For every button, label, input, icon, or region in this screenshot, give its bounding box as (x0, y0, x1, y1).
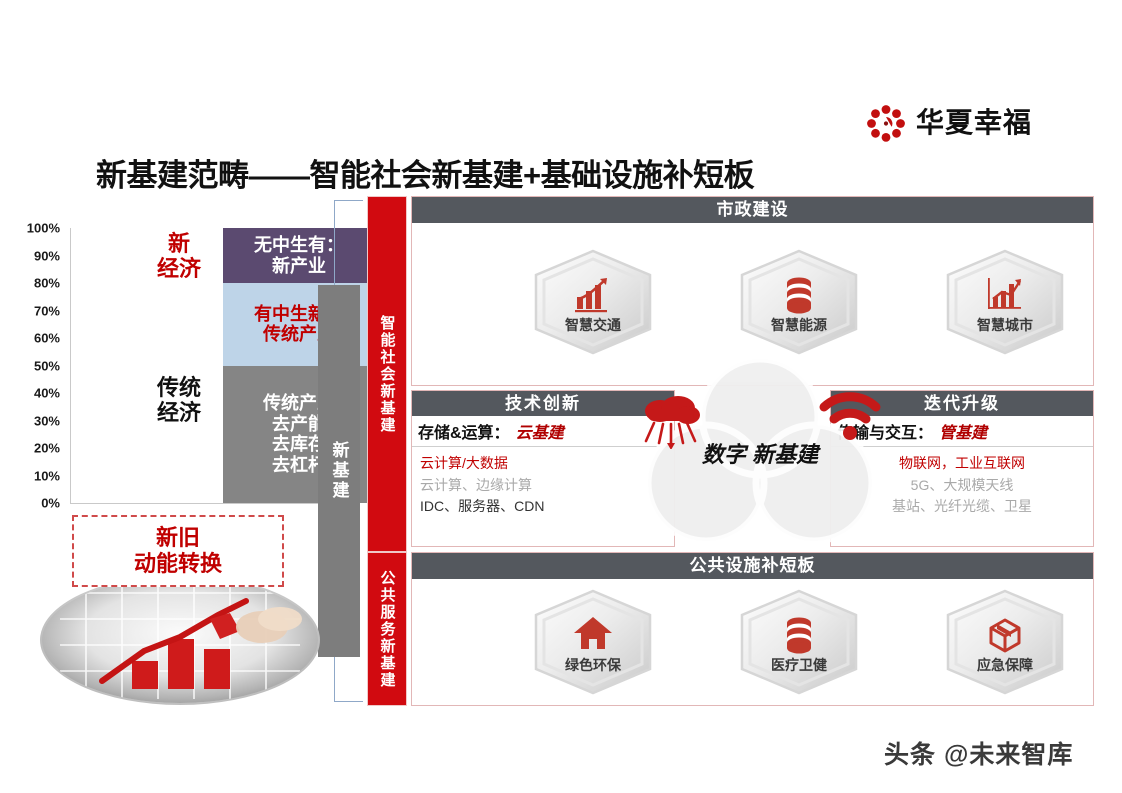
database-stack-icon (782, 615, 816, 660)
hex-label: 智慧交通 (532, 315, 654, 335)
stack-segment-0-line-1: 新产业 (272, 256, 326, 277)
hex-label: 智慧城市 (944, 315, 1066, 335)
panel-technology-innovation: 技术创新 存储&运算： 云基建 云计算/大数据云计算、边缘计算IDC、服务器、C… (411, 390, 675, 547)
old-new-momentum-box: 新旧 动能转换 (72, 515, 284, 587)
chart-annotation-traditional-economy: 传统经济 (143, 376, 215, 425)
tech-subtitle-accent: 云基建 (516, 419, 564, 443)
hex-card-应急保障[interactable]: 应急保障 (944, 589, 1066, 695)
page-title: 新基建范畴——智能社会新基建+基础设施补短板 (96, 150, 996, 192)
public-facility-hex-row: 绿色环保医疗卫健应急保障 (412, 579, 1093, 739)
stack-segment-0-line-0: 无中生有： (254, 235, 344, 256)
panel-municipal-header: 市政建设 (412, 197, 1093, 223)
band-smart-society: 智能社会新基建 (367, 196, 407, 552)
puzzle-growth-chart-photo (40, 575, 320, 705)
hex-card-医疗卫健[interactable]: 医疗卫健 (738, 589, 860, 695)
hex-label: 绿色环保 (532, 655, 654, 675)
flower-circle-icon (866, 103, 906, 143)
tech-panel-lines: 云计算/大数据云计算、边缘计算IDC、服务器、CDN (412, 447, 674, 518)
chart-annotation-new-economy: 新经济 (143, 232, 215, 281)
home-icon (573, 615, 613, 656)
new-infrastructure-bar: 新基建 (318, 285, 360, 657)
box-package-icon (985, 615, 1025, 660)
hub-label-line1: 数字 (702, 442, 746, 467)
panel-public-facility: 公共设施补短板 绿色环保医疗卫健应急保障 (411, 552, 1094, 706)
y-tick-50: 50% (34, 358, 60, 373)
tech-lines-line-2: IDC、服务器、CDN (420, 496, 666, 518)
chart-annotation-traditional-economy-line-0: 传统 (143, 376, 215, 401)
cloud-rain-icon (638, 391, 702, 454)
y-tick-20: 20% (34, 441, 60, 456)
band-public-service-label: 公共服务新基建 (377, 570, 398, 689)
y-tick-40: 40% (34, 386, 60, 401)
hex-label: 医疗卫健 (738, 655, 860, 675)
watermark: 头条 @未来智库 (884, 735, 1073, 771)
tech-subtitle-plain: 存储&运算： (418, 419, 510, 443)
chart-annotation-new-economy-line-0: 新 (143, 232, 215, 257)
y-tick-100: 100% (27, 221, 60, 236)
tech-lines-line-0: 云计算/大数据 (420, 453, 666, 475)
tech-panel-subtitle: 存储&运算： 云基建 (412, 416, 674, 447)
wifi-icon (818, 389, 882, 450)
y-tick-10: 10% (34, 468, 60, 483)
momentum-line-1: 新旧 (156, 525, 200, 551)
brand-logo: 华夏幸福 (866, 100, 1046, 146)
y-axis-tick-labels: 100%90%80%70%60%50%40%30%20%10%0% (8, 222, 60, 514)
panel-public-facility-header: 公共设施补短板 (412, 553, 1093, 579)
logo-text: 华夏幸福 (916, 109, 1032, 137)
y-tick-30: 30% (34, 413, 60, 428)
chart-annotation-new-economy-line-1: 经济 (143, 257, 215, 282)
hub-label-line2: 新基建 (752, 442, 818, 467)
line-chart-icon (985, 275, 1025, 318)
tech-lines-line-1: 云计算、边缘计算 (420, 475, 666, 497)
hex-label: 智慧能源 (738, 315, 860, 335)
digital-new-infrastructure-hub: 数字 新基建 (640, 355, 880, 555)
band-smart-society-label: 智能社会新基建 (377, 315, 398, 434)
hub-label: 数字 新基建 (702, 442, 818, 468)
bar-chart-arrow-icon (573, 275, 613, 318)
band-public-service: 公共服务新基建 (367, 552, 407, 706)
hex-label: 应急保障 (944, 655, 1066, 675)
y-tick-90: 90% (34, 248, 60, 263)
y-tick-60: 60% (34, 331, 60, 346)
hex-card-智慧能源[interactable]: 智慧能源 (738, 249, 860, 355)
database-stack-icon (782, 275, 816, 320)
y-tick-0: 0% (41, 496, 60, 511)
tech-panel-header: 技术创新 (412, 391, 674, 416)
new-infrastructure-bar-label: 新基建 (327, 441, 352, 501)
y-tick-80: 80% (34, 276, 60, 291)
economy-structure-chart: 100%90%80%70%60%50%40%30%20%10%0% 新经济 传统… (8, 222, 338, 514)
iteration-subtitle-accent: 管基建 (939, 419, 987, 443)
momentum-line-2: 动能转换 (134, 551, 222, 577)
chart-plot-area: 新经济 传统经济 无中生有：新产业有中生新：传统产业传统产业去产能去库存去杠杆 (70, 228, 321, 504)
y-tick-70: 70% (34, 303, 60, 318)
hex-card-绿色环保[interactable]: 绿色环保 (532, 589, 654, 695)
chart-annotation-traditional-economy-line-1: 经济 (143, 401, 215, 426)
hex-card-智慧城市[interactable]: 智慧城市 (944, 249, 1066, 355)
hex-card-智慧交通[interactable]: 智慧交通 (532, 249, 654, 355)
